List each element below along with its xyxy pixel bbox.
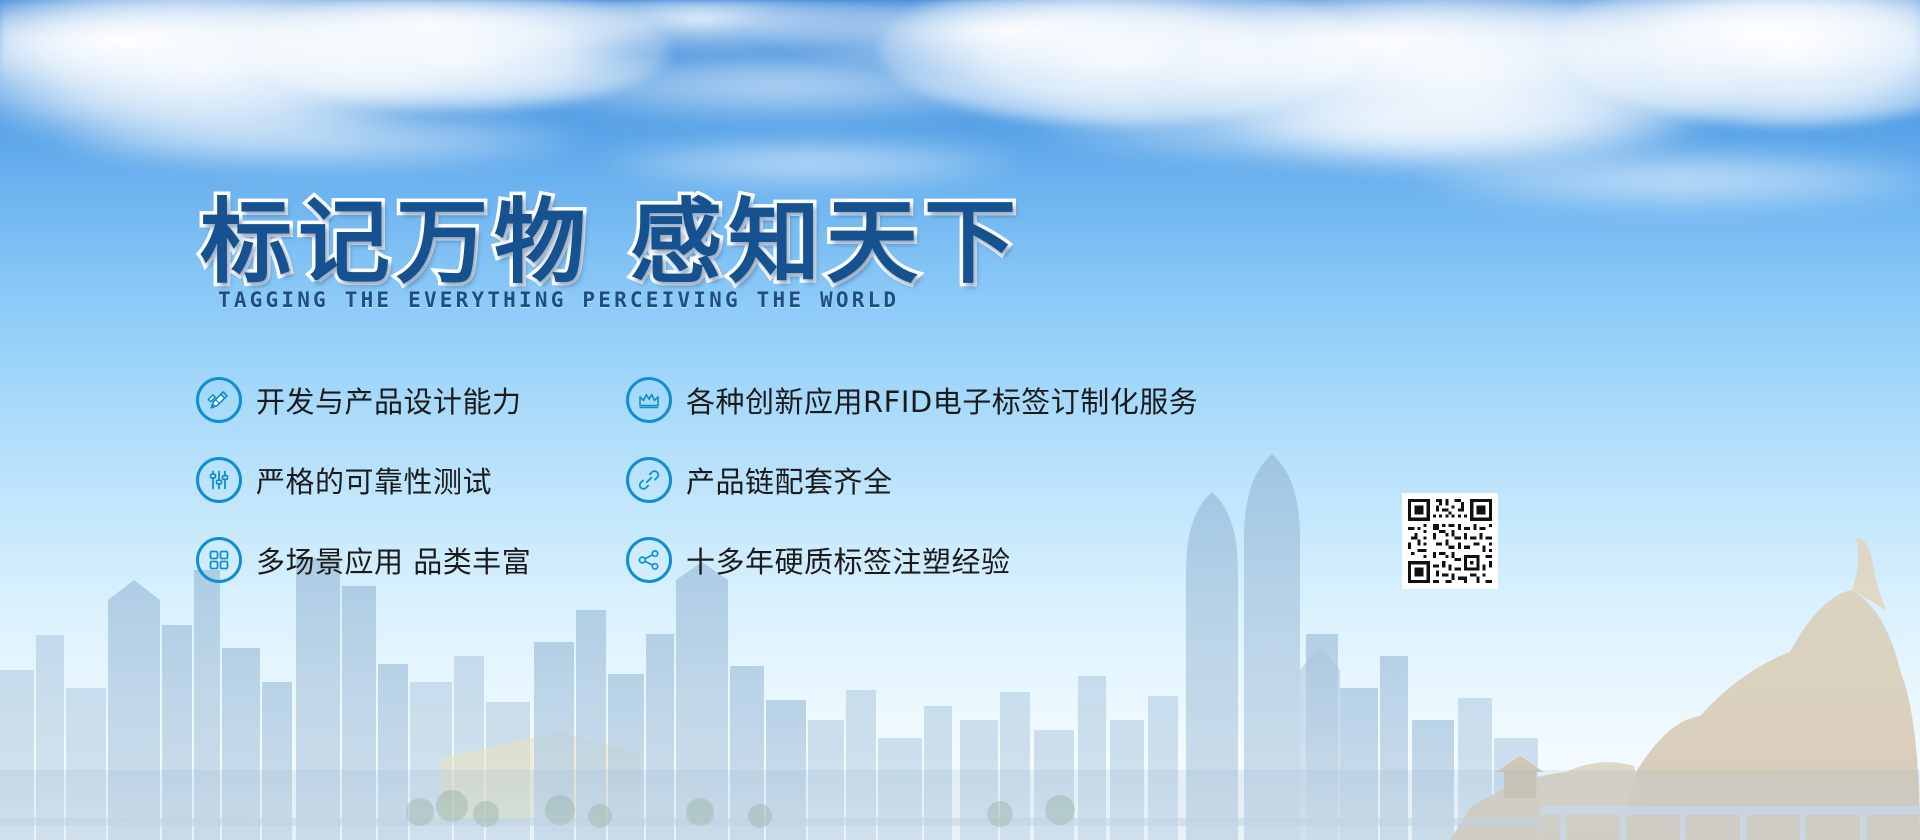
marketing-banner: 标记万物 感知天下 TAGGING THE EVERYTHING PERCEIV… [0,0,1920,840]
pen-ruler-icon [196,377,242,423]
feature-item-reliability-testing: 严格的可靠性测试 [196,440,626,520]
feature-row: 多场景应用 品类丰富 [196,520,1296,600]
banner-content: 标记万物 感知天下 TAGGING THE EVERYTHING PERCEIV… [0,0,1920,840]
feature-item-multi-scenario: 多场景应用 品类丰富 [196,520,626,600]
feature-label: 开发与产品设计能力 [256,379,522,421]
chain-link-icon [626,457,672,503]
feature-label: 严格的可靠性测试 [256,459,492,501]
feature-list: 开发与产品设计能力 各种创新应用RFID电子标签订制化服务 [196,360,1296,600]
feature-label: 产品链配套齐全 [686,459,893,501]
feature-label: 各种创新应用RFID电子标签订制化服务 [686,379,1198,421]
feature-item-development-design: 开发与产品设计能力 [196,360,626,440]
feature-item-supply-chain: 产品链配套齐全 [626,440,1266,520]
feature-item-injection-experience: 十多年硬质标签注塑经验 [626,520,1266,600]
share-nodes-icon [626,537,672,583]
feature-row: 严格的可靠性测试 产品链配套齐全 [196,440,1296,520]
feature-label: 多场景应用 品类丰富 [256,539,531,581]
banner-title: 标记万物 感知天下 [200,168,1022,301]
sliders-icon [196,457,242,503]
qr-code[interactable] [1402,493,1498,589]
crown-icon [626,377,672,423]
grid-apps-icon [196,537,242,583]
banner-subtitle: TAGGING THE EVERYTHING PERCEIVING THE WO… [218,288,899,312]
feature-row: 开发与产品设计能力 各种创新应用RFID电子标签订制化服务 [196,360,1296,440]
feature-label: 十多年硬质标签注塑经验 [686,539,1011,581]
feature-item-rfid-customization: 各种创新应用RFID电子标签订制化服务 [626,360,1266,440]
